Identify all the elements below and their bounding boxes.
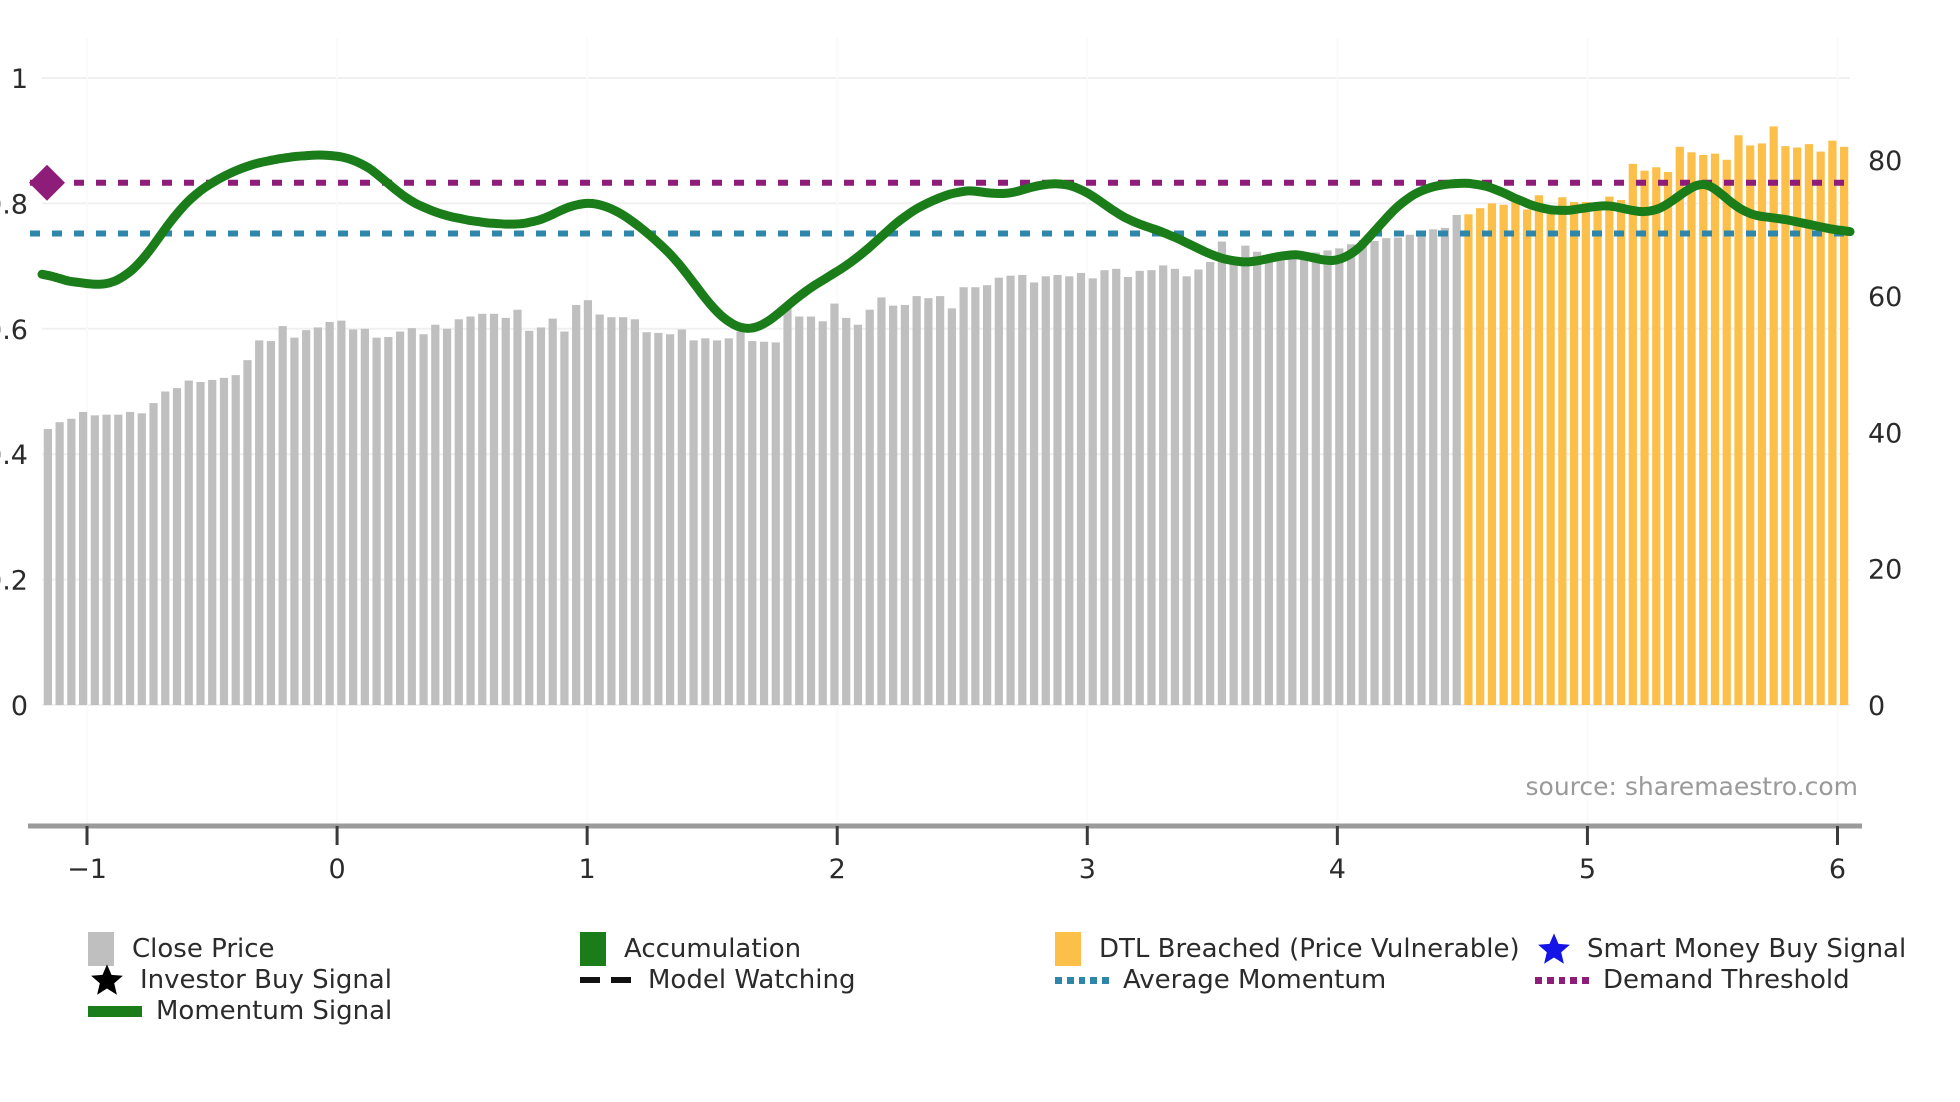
bar-close-price (466, 317, 474, 705)
bar-close-price (1723, 160, 1731, 705)
bar-close-price (361, 329, 369, 705)
bar-close-price (314, 327, 322, 705)
legend-item-model-watching[interactable]: Model Watching (580, 961, 855, 999)
bar-close-price (1570, 202, 1578, 705)
bar-close-price (1429, 229, 1437, 705)
bar-close-price (1359, 240, 1367, 705)
bar-close-price (1335, 248, 1343, 705)
bar-close-price (1089, 278, 1097, 705)
bar-close-price (689, 340, 697, 705)
bar-close-price (1781, 146, 1789, 705)
bar-close-price (607, 317, 615, 705)
bar-close-price (1323, 250, 1331, 705)
bar-close-price (1276, 252, 1284, 705)
bar-close-price (1006, 276, 1014, 705)
bar-close-price (232, 375, 240, 705)
bar-close-price (537, 327, 545, 705)
solid-line-icon (88, 994, 142, 1028)
y-right-tick-label-3: 20 (1868, 555, 1902, 586)
bar-close-price (1018, 275, 1026, 705)
legend-item-label: Average Momentum (1123, 967, 1386, 993)
bar-close-price (502, 318, 510, 705)
bar-close-price (948, 308, 956, 705)
bar-close-price (1030, 282, 1038, 705)
legend-item-label: Smart Money Buy Signal (1587, 936, 1906, 962)
bar-close-price (1547, 212, 1555, 705)
bar-close-price (1511, 201, 1519, 705)
chart-legend: Close PriceAccumulationDTL Breached (Pri… (0, 880, 1960, 1102)
y-left-tick-label-2: 0.6 (0, 315, 28, 346)
bar-close-price (1065, 276, 1073, 705)
bar-close-price (79, 412, 87, 705)
bar-close-price (1640, 171, 1648, 705)
bar-close-price (819, 321, 827, 705)
bar-close-price (1194, 270, 1202, 705)
bar-close-price (1593, 205, 1601, 705)
bar-close-price (983, 285, 991, 705)
y-right-tick-label-4: 0 (1868, 691, 1885, 722)
bar-close-price (1488, 203, 1496, 705)
bar-close-price (455, 319, 463, 705)
bar-close-price (478, 314, 486, 705)
legend-item-label: Demand Threshold (1603, 967, 1850, 993)
bar-close-price (1453, 215, 1461, 705)
bar-close-price (842, 318, 850, 705)
legend-item-label: DTL Breached (Price Vulnerable) (1099, 936, 1520, 962)
bar-close-price (337, 321, 345, 705)
y-right-tick-label-1: 60 (1868, 282, 1902, 313)
bar-close-price (678, 329, 686, 705)
bar-close-price (384, 337, 392, 705)
bar-close-price (1159, 265, 1167, 705)
bar-close-price (830, 304, 838, 705)
bar-close-price (326, 322, 334, 705)
bar-close-price (783, 308, 791, 705)
x-tick-label-2: 1 (579, 854, 596, 880)
bar-close-price (408, 328, 416, 705)
bar-close-price (1476, 208, 1484, 705)
bar-close-price (1464, 214, 1472, 705)
chart-page: −1012345610.80.60.40.20806040200source: … (0, 0, 1960, 1102)
bar-close-price (1734, 135, 1742, 705)
bar-close-price (525, 331, 533, 705)
bar-close-price (1053, 275, 1061, 705)
bar-close-price (267, 341, 275, 705)
bar-close-price (572, 305, 580, 705)
bar-close-price (560, 332, 568, 705)
bar-close-price (1711, 154, 1719, 705)
bar-close-price (1300, 254, 1308, 705)
bar-close-price (1605, 197, 1613, 705)
bar-close-price (114, 415, 122, 705)
bar-close-price (290, 338, 298, 705)
bar-close-price (419, 334, 427, 705)
bar-close-price (666, 334, 674, 705)
bar-close-price (701, 338, 709, 705)
bar-close-price (255, 340, 263, 705)
bar-close-price (760, 342, 768, 705)
bar-close-price (56, 422, 64, 705)
bar-close-price (1582, 202, 1590, 705)
bar-close-price (443, 329, 451, 705)
bar-close-price (1312, 252, 1320, 705)
legend-item-label: Investor Buy Signal (140, 967, 392, 993)
bar-close-price (913, 296, 921, 705)
dashed-line-icon (580, 963, 634, 997)
bar-close-price (1699, 155, 1707, 705)
bar-close-price (654, 333, 662, 705)
bar-close-price (396, 332, 404, 705)
bar-close-price (126, 412, 134, 705)
bar-close-price (960, 287, 968, 705)
legend-item-label: Momentum Signal (156, 998, 392, 1024)
bar-close-price (1288, 254, 1296, 705)
bar-close-price (102, 415, 110, 705)
bar-close-price (1183, 276, 1191, 705)
bar-close-price (1206, 262, 1214, 705)
bar-close-price (1558, 197, 1566, 705)
bar-close-price (349, 329, 357, 705)
bar-close-price (196, 382, 204, 705)
bar-close-price (302, 330, 310, 705)
bar-close-price (1136, 271, 1144, 705)
bar-close-price (1746, 145, 1754, 705)
legend-item-label: Model Watching (648, 967, 855, 993)
x-tick-label-1: 0 (328, 854, 345, 880)
legend-item-label: Close Price (132, 936, 275, 962)
bar-close-price (1394, 237, 1402, 705)
bar-close-price (1218, 242, 1226, 705)
dotted-line-icon (1055, 963, 1109, 997)
bar-close-price (138, 413, 146, 705)
bar-close-price (372, 338, 380, 705)
bar-close-price (243, 360, 251, 705)
bar-close-price (795, 317, 803, 705)
bar-close-price (901, 305, 909, 705)
bar-close-price (1500, 205, 1508, 705)
bar-close-price (1382, 238, 1390, 705)
bar-close-price (1664, 172, 1672, 705)
bar-close-price (736, 332, 744, 705)
bar-close-price (1535, 195, 1543, 705)
bar-close-price (220, 378, 228, 705)
bar-close-price (619, 317, 627, 705)
bar-close-price (807, 317, 815, 705)
bar-close-price (173, 388, 181, 705)
bar-close-price (1241, 246, 1249, 705)
y-left-tick-label-0: 1 (11, 64, 28, 95)
y-right-tick-label-0: 80 (1868, 146, 1902, 177)
bar-close-price (772, 342, 780, 705)
bar-close-price (67, 419, 75, 705)
legend-item-average-momentum[interactable]: Average Momentum (1055, 961, 1386, 999)
bar-close-price (1042, 276, 1050, 705)
y-left-tick-label-3: 0.4 (0, 440, 28, 471)
bar-close-price (161, 392, 169, 706)
bar-close-price (1758, 143, 1766, 705)
x-tick-label-5: 4 (1329, 854, 1346, 880)
bar-close-price (1347, 244, 1355, 705)
bar-close-price (596, 314, 604, 705)
bar-close-price (748, 341, 756, 705)
bar-close-price (936, 296, 944, 705)
chart-svg: −1012345610.80.60.40.20806040200source: … (0, 0, 1960, 880)
x-tick-label-3: 2 (829, 854, 846, 880)
bar-close-price (431, 325, 439, 705)
bar-close-price (1230, 257, 1238, 705)
bar-close-price (866, 310, 874, 705)
bar-close-price (889, 306, 897, 705)
bar-close-price (971, 287, 979, 705)
bar-close-price (1629, 164, 1637, 705)
source-attribution: source: sharemaestro.com (1526, 772, 1859, 801)
y-left-tick-label-4: 0.2 (0, 566, 28, 597)
x-tick-label-6: 5 (1579, 854, 1596, 880)
bar-close-price (44, 429, 52, 705)
bar-close-price (1417, 233, 1425, 705)
bar-close-price (725, 338, 733, 705)
bar-close-price (208, 380, 216, 705)
bar-close-price (91, 415, 99, 705)
dotted-line-icon (1535, 963, 1589, 997)
y-left-tick-label-5: 0 (11, 691, 28, 722)
bar-close-price (1100, 270, 1108, 705)
y-left-tick-label-1: 0.8 (0, 189, 28, 220)
bar-close-price (877, 297, 885, 705)
bar-close-price (995, 278, 1003, 705)
bar-close-price (1265, 255, 1273, 705)
bar-close-price (1253, 252, 1261, 705)
bar-close-price (185, 381, 193, 705)
chart-plot-area: −1012345610.80.60.40.20806040200source: … (0, 0, 1960, 880)
bar-close-price (1652, 167, 1660, 705)
x-tick-label-4: 3 (1079, 854, 1096, 880)
legend-item-momentum-signal[interactable]: Momentum Signal (88, 992, 392, 1030)
bar-close-price (1370, 241, 1378, 705)
x-tick-label-0: −1 (67, 854, 107, 880)
legend-item-demand-threshold[interactable]: Demand Threshold (1535, 961, 1850, 999)
bar-close-price (854, 325, 862, 705)
bar-close-price (513, 310, 521, 705)
bar-close-price (1077, 273, 1085, 705)
bar-close-price (1112, 269, 1120, 705)
bar-close-price (1523, 210, 1531, 705)
bar-close-price (643, 332, 651, 705)
bar-close-price (549, 319, 557, 705)
bar-close-price (490, 314, 498, 705)
bar-close-price (1171, 269, 1179, 705)
bar-close-price (279, 326, 287, 705)
bar-close-price (149, 403, 157, 705)
demand-threshold-start-diamond (29, 165, 65, 201)
bar-close-price (1406, 235, 1414, 705)
legend-item-label: Accumulation (624, 936, 801, 962)
bar-close-price (1617, 200, 1625, 705)
y-right-tick-label-2: 40 (1868, 418, 1902, 449)
x-tick-label-7: 6 (1829, 854, 1846, 880)
bar-close-price (924, 298, 932, 705)
bar-close-price (631, 319, 639, 705)
bar-close-price (1124, 277, 1132, 705)
bar-close-price (713, 340, 721, 705)
bar-close-price (1441, 228, 1449, 705)
bar-close-price (584, 300, 592, 705)
bar-close-price (1147, 270, 1155, 705)
